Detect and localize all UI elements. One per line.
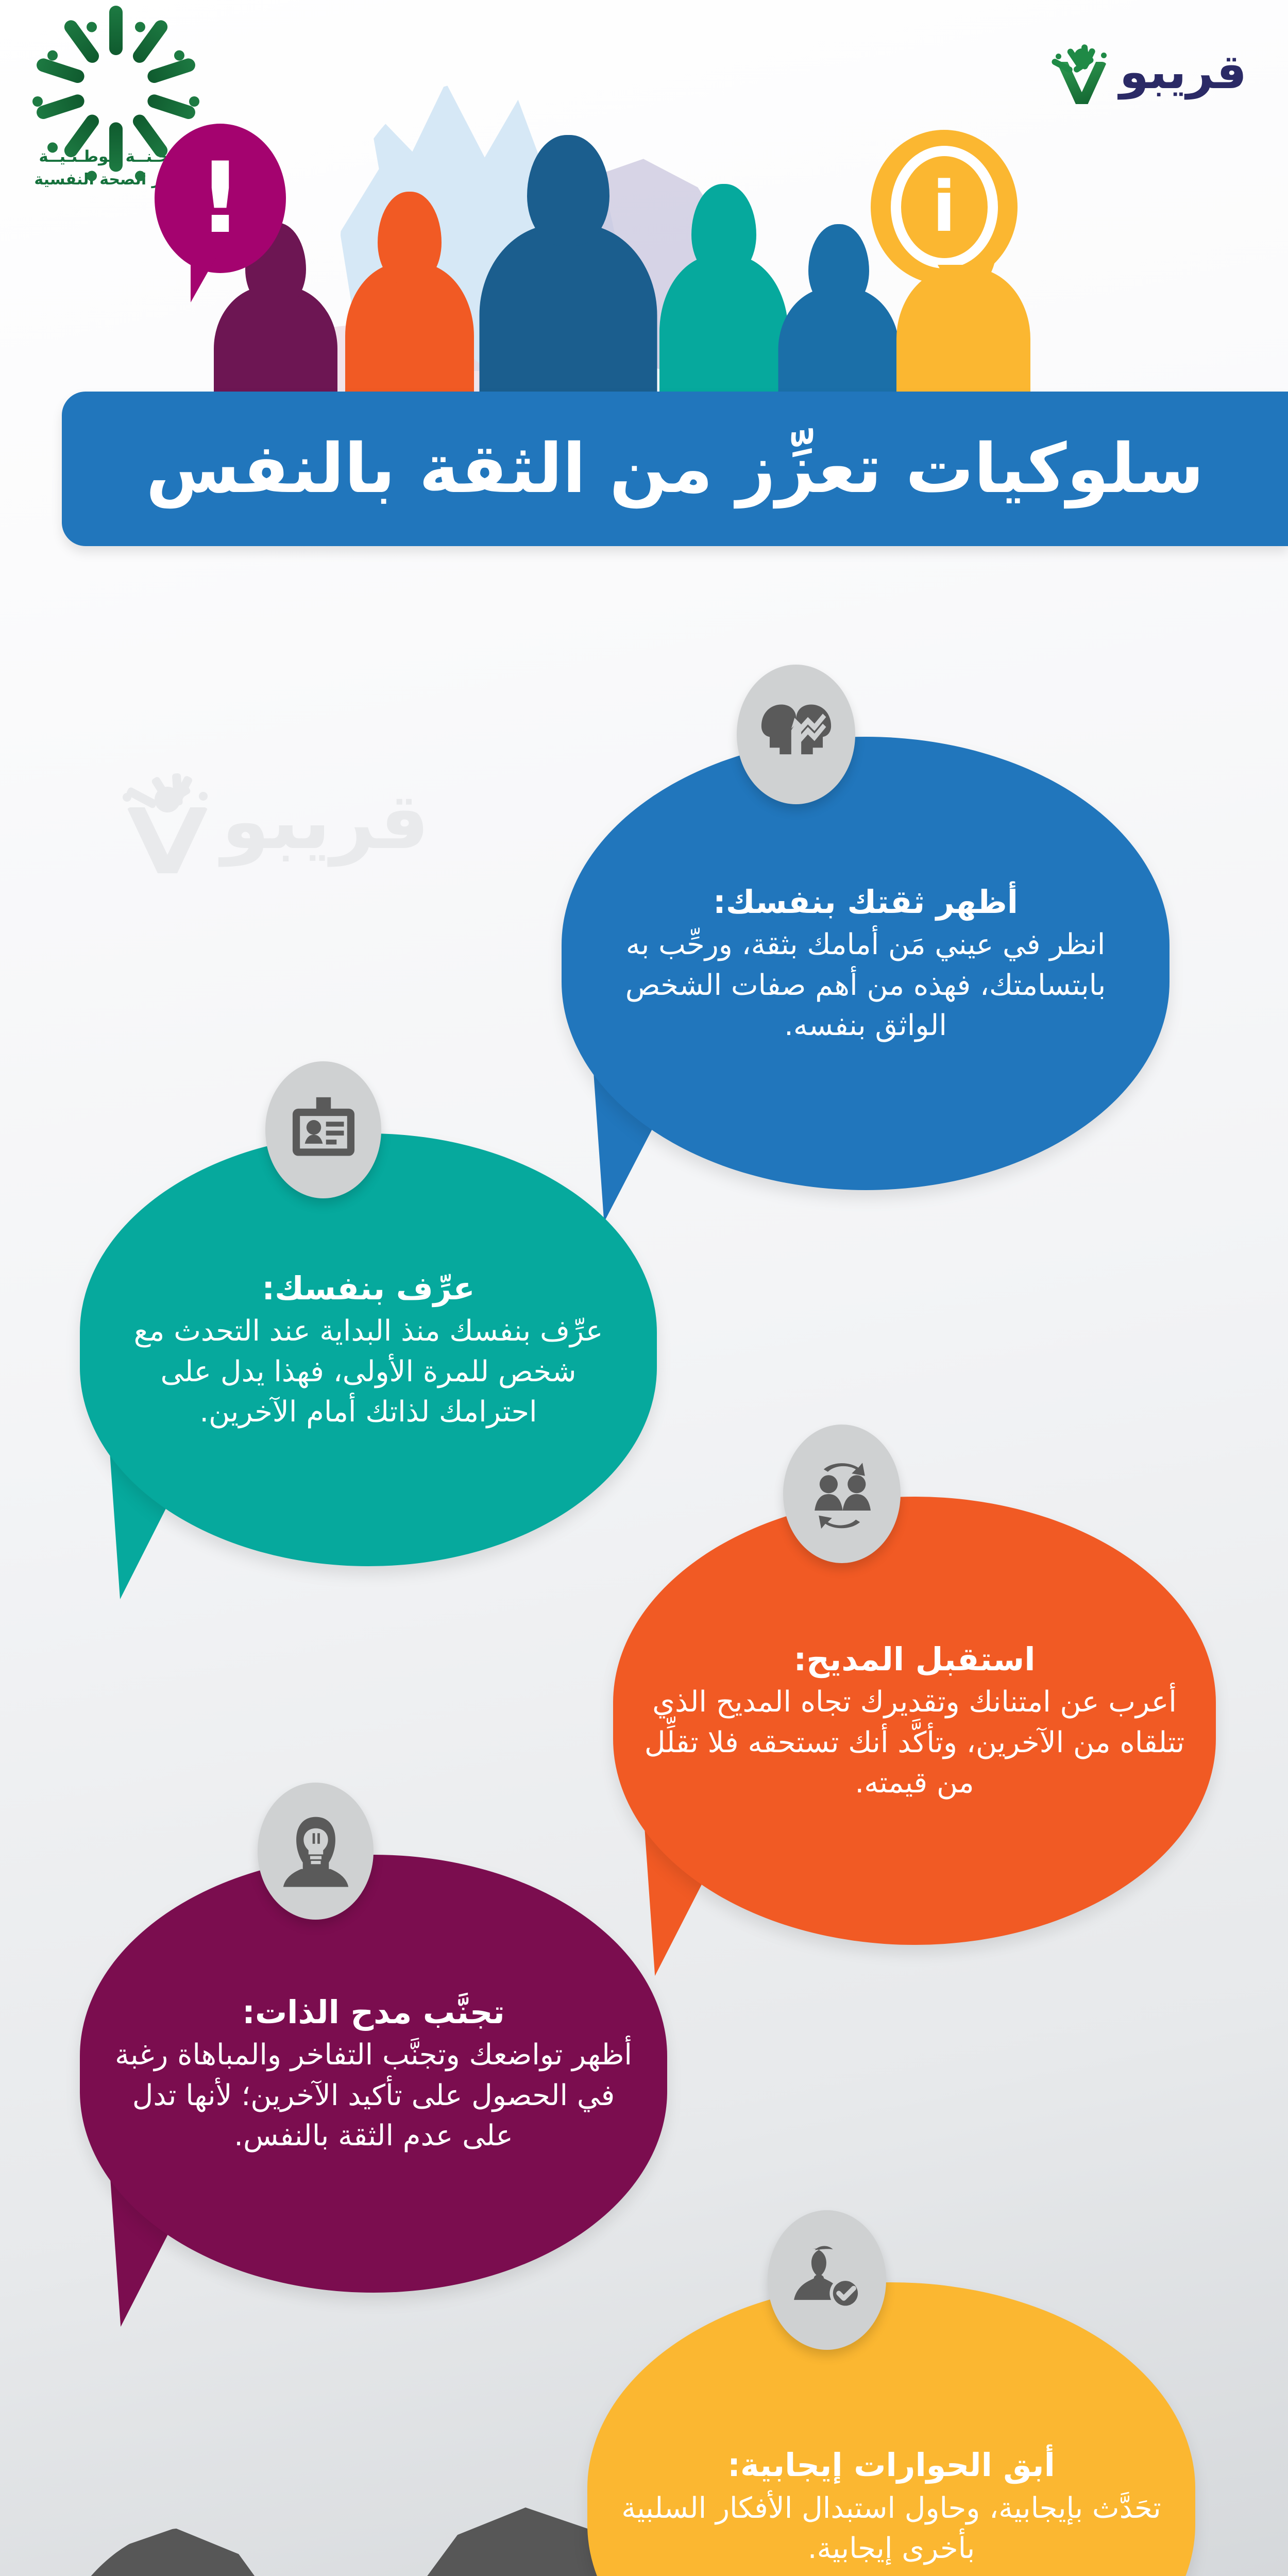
brand-logo: قريبو [1052,36,1247,108]
watermark-top-left-word: قريبو [222,783,429,860]
person-orange-head [378,192,442,284]
logo-dot [1101,53,1107,58]
bubble-text-receive-praise: استقبل المديح:أعرب عن امتنانك وتقديرك تج… [641,1638,1188,1804]
card-title-avoid-self-praise: تجنَّب مدح الذات: [108,1991,639,2033]
card-body-receive-praise: أعرب عن امتنانك وتقديرك تجاه المديح الذي… [641,1682,1188,1803]
card-title-show-confidence: أظهر ثقتك بنفسك: [589,881,1142,923]
info-callout-glyph: i [932,179,956,236]
watermark-top-left: قريبو [118,770,429,873]
card-keep-conversations-positive: أبق الحوارات إيجابية:تحَدَّث بإيجابية، و… [587,2282,1195,2576]
bubble-text-keep-conversations-positive: أبق الحوارات إيجابية:تحَدَّث بإيجابية، و… [615,2444,1167,2569]
person-teal-head [691,184,756,277]
bubble-show-confidence: أظهر ثقتك بنفسك:انظر في عيني مَن أمامك ب… [562,737,1170,1190]
watermark-dot [123,793,131,802]
card-body-introduce-yourself: عرِّف بنفسك منذ البداية عند التحدث مع شخ… [108,1311,629,1432]
logo-petal [109,6,123,55]
head-lightbulb-icon [258,1783,374,1920]
card-receive-praise: استقبل المديح:أعرب عن امتنانك وتقديرك تج… [613,1497,1216,1945]
verified-user-icon [768,2210,886,2350]
exclamation-callout: ! [155,124,286,273]
person-darkblue-head [808,224,869,309]
logo-petal [146,57,197,84]
card-body-avoid-self-praise: أظهر تواضعك وتجنَّب التفاخر والمباهاة رغ… [108,2035,639,2156]
logo-petal-dot [133,21,146,33]
exclamation-callout-tail [191,255,217,302]
card-title-keep-conversations-positive: أبق الحوارات إيجابية: [615,2444,1167,2486]
watermark-dot [199,792,208,801]
info-callout-tail [938,265,967,316]
two-heads-talking-icon [737,665,855,804]
card-title-receive-praise: استقبل المديح: [641,1638,1188,1681]
person-blue-large-head [527,135,609,246]
bubble-avoid-self-praise: تجنَّب مدح الذات:أظهر تواضعك وتجنَّب الت… [80,1855,667,2293]
exclamation-callout-bubble: ! [155,124,286,273]
info-callout-ring: i [891,146,998,268]
bubble-text-introduce-yourself: عرِّف بنفسك:عرِّف بنفسك منذ البداية عند … [108,1267,629,1433]
logo-dot [1056,54,1061,59]
bubble-text-show-confidence: أظهر ثقتك بنفسك:انظر في عيني مَن أمامك ب… [589,881,1142,1046]
watermark-v-shape [127,807,208,873]
header-banner: سلوكيات تعزِّز من الثقة بالنفس [62,392,1288,546]
card-introduce-yourself: عرِّف بنفسك:عرِّف بنفسك منذ البداية عند … [80,1133,657,1566]
logo-petal-dot [85,21,98,33]
watermark-top-left-icon [118,770,216,873]
bubble-text-avoid-self-praise: تجنَّب مدح الذات:أظهر تواضعك وتجنَّب الت… [108,1991,639,2157]
card-avoid-self-praise: تجنَّب مدح الذات:أظهر تواضعك وتجنَّب الت… [80,1855,667,2293]
hero-illustration: !i [0,103,1288,422]
id-badge-icon [265,1061,381,1198]
logo-petal [35,57,86,84]
silhouette-head-left [31,2528,319,2576]
two-people-exchange-icon [783,1425,901,1563]
qareeboo-v-people-logo-icon [1052,39,1112,105]
person-orange [345,192,474,422]
bubble-receive-praise: استقبل المديح:أعرب عن امتنانك وتقديرك تج… [613,1497,1216,1945]
card-body-show-confidence: انظر في عيني مَن أمامك بثقة، ورحِّب به ب… [589,925,1142,1046]
bubble-introduce-yourself: عرِّف بنفسك:عرِّف بنفسك منذ البداية عند … [80,1133,657,1566]
exclamation-callout-glyph: ! [198,158,243,239]
page-title: سلوكيات تعزِّز من الثقة بالنفس [146,435,1204,503]
bubble-keep-conversations-positive: أبق الحوارات إيجابية:تحَدَّث بإيجابية، و… [587,2282,1195,2576]
person-teal [659,184,788,422]
info-callout-bubble: i [871,130,1018,284]
brand-logo-word: قريبو [1120,48,1247,96]
info-callout: i [871,130,1018,284]
card-title-introduce-yourself: عرِّف بنفسك: [108,1267,629,1310]
person-blue-large [479,135,657,422]
card-show-confidence: أظهر ثقتك بنفسك:انظر في عيني مَن أمامك ب… [562,737,1170,1190]
card-body-keep-conversations-positive: تحَدَّث بإيجابية، وحاول استبدال الأفكار … [615,2488,1167,2569]
